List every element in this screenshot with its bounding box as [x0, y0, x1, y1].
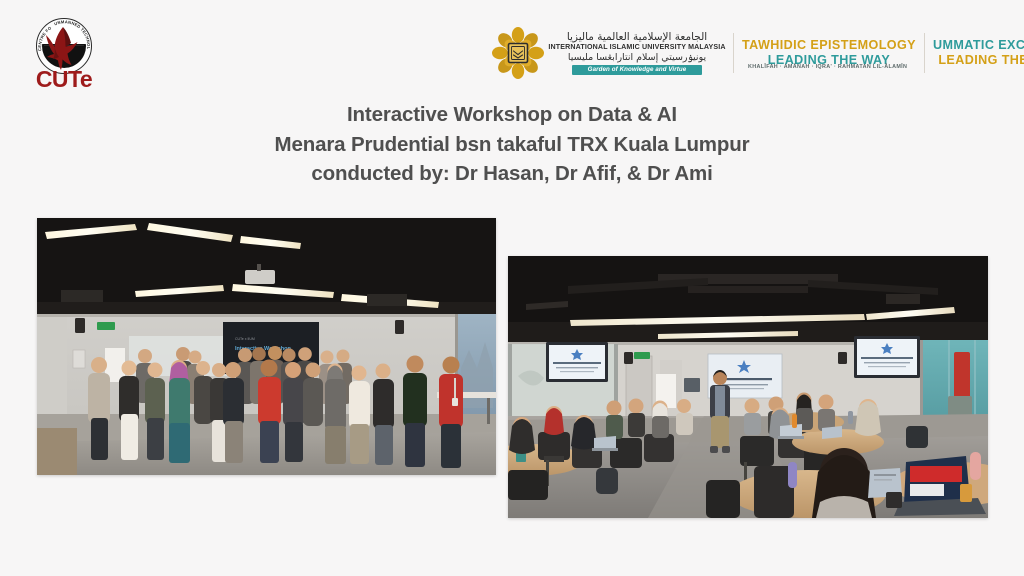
banner-divider: [733, 33, 734, 73]
svg-text:CUTe x IIUM: CUTe x IIUM: [235, 337, 255, 341]
tagline-2-line-2: LEADING THE WORLD: [938, 53, 1024, 68]
title-line-2: Menara Prudential bsn takaful TRX Kuala …: [0, 130, 1024, 160]
tagline-2-line-1: UMMATIC EXCELLENCE: [933, 38, 1024, 53]
banner-divider-2: [924, 33, 925, 73]
iium-jawi-name: يونيۏرسيتي إسلام انتارابڠسا مليسيا: [568, 52, 706, 63]
iium-banner: الجامعة الإسلامية العالمية ماليزيا INTER…: [492, 24, 1024, 82]
tagline-ummatic-excellence: UMMATIC EXCELLENCE LEADING THE WORLD: [933, 38, 1024, 68]
iium-name-lockup: الجامعة الإسلامية العالمية ماليزيا INTER…: [549, 31, 725, 75]
group-photo-content: CUTe x IIUM Interactive Workshop: [37, 218, 496, 475]
classroom-photo-content: [508, 256, 988, 518]
iium-floral-crest-svg: [492, 27, 544, 79]
iium-english-name: INTERNATIONAL ISLAMIC UNIVERSITY MALAYSI…: [548, 43, 725, 52]
iium-arabic-name: الجامعة الإسلامية العالمية ماليزيا: [567, 31, 707, 43]
group-photo: CUTe x IIUM Interactive Workshop: [37, 218, 496, 475]
title-line-3: conducted by: Dr Hasan, Dr Afif, & Dr Am…: [0, 159, 1024, 189]
iium-values-line: KHALĪFAH · AMĀNAH · IQRA' · RAHMATAN LIL…: [748, 64, 907, 70]
page-title: Interactive Workshop on Data & AI Menara…: [0, 100, 1024, 189]
iium-crest-icon: [492, 27, 544, 79]
cute-logo: CENTRE FOR UNMANNED TECHNOLOGIES CUTe: [22, 18, 106, 90]
tagline-1-line-1: TAWHIDIC EPISTEMOLOGY: [742, 38, 916, 53]
title-line-1: Interactive Workshop on Data & AI: [0, 100, 1024, 130]
eagle-bird-icon: [42, 24, 84, 72]
iium-tagline-ribbon: Garden of Knowledge and Virtue: [572, 65, 703, 75]
classroom-session-photo: [508, 256, 988, 518]
cute-wordmark: CUTe: [22, 68, 106, 91]
